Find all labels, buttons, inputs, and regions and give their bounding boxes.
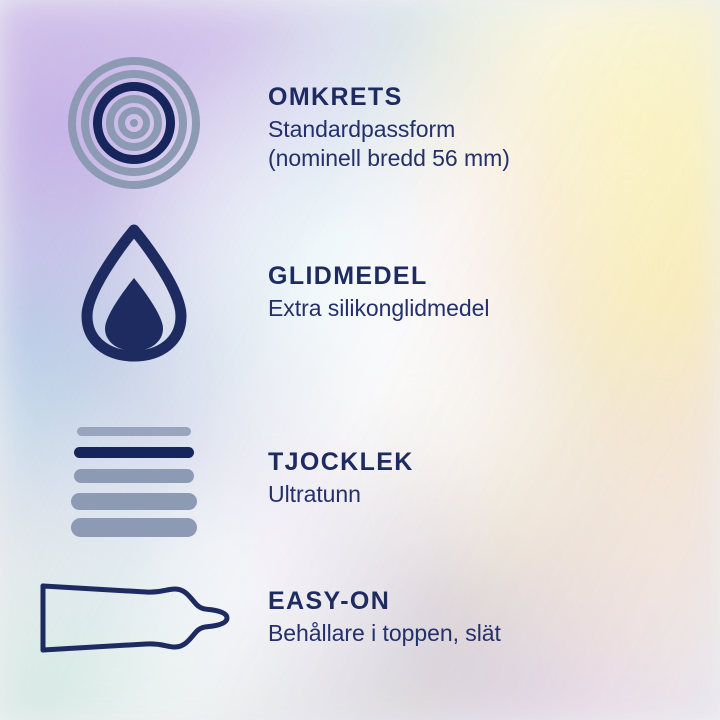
feature-icon-cell <box>0 56 268 190</box>
feature-text-cell: GLIDMEDEL Extra silikonglidmedel <box>268 263 720 323</box>
feature-text-cell: EASY-ON Behållare i toppen, slät <box>268 588 720 648</box>
product-feature-infographic: OMKRETS Standardpassform (nominell bredd… <box>0 0 720 720</box>
feature-list: OMKRETS Standardpassform (nominell bredd… <box>0 0 720 720</box>
feature-row-easyon: EASY-ON Behållare i toppen, slät <box>0 570 720 666</box>
feature-row-tjocklek: TJOCKLEK Ultratunn <box>0 418 720 540</box>
feature-description: Behållare i toppen, slät <box>268 619 702 648</box>
feature-icon-cell <box>0 421 268 537</box>
thickness-bars-icon <box>71 421 197 537</box>
feature-text-cell: OMKRETS Standardpassform (nominell bredd… <box>268 74 720 173</box>
condom-outline-icon <box>34 580 234 656</box>
feature-title: OMKRETS <box>268 84 702 112</box>
feature-title: GLIDMEDEL <box>268 263 702 291</box>
concentric-rings-icon <box>67 56 201 190</box>
feature-text-cell: TJOCKLEK Ultratunn <box>268 449 720 509</box>
feature-icon-cell <box>0 580 268 656</box>
feature-description: Extra silikonglidmedel <box>268 294 702 323</box>
feature-row-omkrets: OMKRETS Standardpassform (nominell bredd… <box>0 56 720 190</box>
feature-icon-cell <box>0 223 268 363</box>
droplet-icon <box>80 223 188 363</box>
feature-row-glidmedel: GLIDMEDEL Extra silikonglidmedel <box>0 222 720 364</box>
feature-description: Standardpassform (nominell bredd 56 mm) <box>268 115 702 173</box>
feature-title: TJOCKLEK <box>268 449 702 477</box>
feature-title: EASY-ON <box>268 588 702 616</box>
feature-description: Ultratunn <box>268 480 702 509</box>
